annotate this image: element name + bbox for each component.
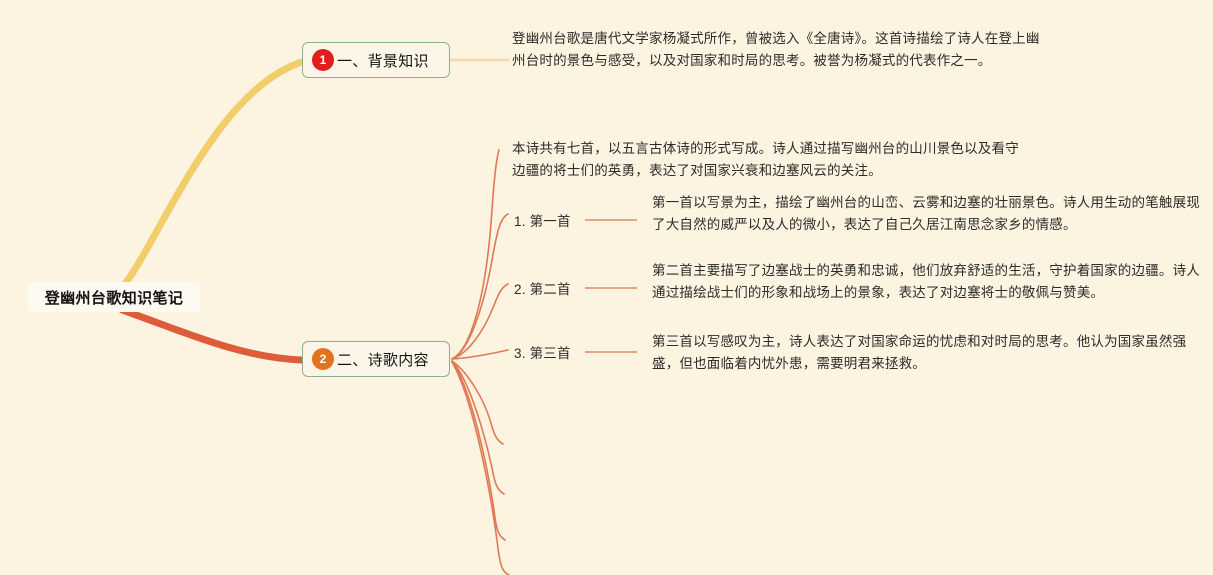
sub-item-3-connector-line [585,351,637,353]
sub-item-1-connector-line [585,219,637,221]
edge-branch-2-extra-1 [452,361,503,444]
sub-item-poem-2[interactable]: 2. 第二首 第二首主要描写了边塞战士的英勇和忠诚，他们放弃舒适的生活，守护着国… [514,260,1210,316]
branch-2-label: 二、诗歌内容 [337,349,429,370]
branch-1-number-badge: 1 [312,49,334,71]
root-node[interactable]: 登幽州台歌知识笔记 [28,282,200,312]
edge-branch-2-to-intro [452,150,499,359]
edge-branch-2-to-item-1 [452,214,508,359]
edge-branch-2-to-item-2 [452,284,508,359]
branch-1-number: 1 [320,53,327,67]
sub-item-1-label: 1. 第一首 [514,210,571,230]
edge-branch-2-extra-4 [452,362,509,575]
sub-item-2-description: 第二首主要描写了边塞战士的英勇和忠诚，他们放弃舒适的生活，守护着国家的边疆。诗人… [652,260,1210,304]
sub-item-3-description: 第三首以写感叹为主，诗人表达了对国家命运的忧虑和对时局的思考。他认为国家虽然强盛… [652,331,1210,375]
branch-2-number-badge: 2 [312,348,334,370]
sub-item-poem-3[interactable]: 3. 第三首 第三首以写感叹为主，诗人表达了对国家命运的忧虑和对时局的思考。他认… [514,331,1210,375]
sub-item-poem-1[interactable]: 1. 第一首 第一首以写景为主，描绘了幽州台的山峦、云雾和边塞的壮丽景色。诗人用… [514,192,1210,248]
branch-node-background-knowledge[interactable]: 1 一、背景知识 [302,42,450,78]
sub-item-3-label: 3. 第三首 [514,342,571,362]
branch-1-body-text: 登幽州台歌是唐代文学家杨凝式所作，曾被选入《全唐诗》。这首诗描绘了诗人在登上幽州… [512,28,1042,72]
sub-item-1-description: 第一首以写景为主，描绘了幽州台的山峦、云雾和边塞的壮丽景色。诗人用生动的笔触展现… [652,192,1210,236]
branch-2-number: 2 [320,352,327,366]
edge-branch-2-to-item-3 [452,350,508,359]
sub-item-2-label-wrap: 2. 第二首 [514,260,652,316]
sub-item-2-connector-line [585,287,637,289]
branch-2-intro-text: 本诗共有七首，以五言古体诗的形式写成。诗人通过描写幽州台的山川景色以及看守边疆的… [512,138,1028,182]
edge-branch-2-extra-3 [452,361,505,540]
branch-node-poem-content[interactable]: 2 二、诗歌内容 [302,341,450,377]
branch-1-label: 一、背景知识 [337,50,429,71]
edge-root-to-branch-1 [122,62,302,288]
edge-root-to-branch-2 [122,310,302,360]
edge-branch-2-extra-2 [452,361,504,494]
sub-item-1-label-wrap: 1. 第一首 [514,192,652,248]
sub-item-3-label-wrap: 3. 第三首 [514,331,652,373]
sub-item-2-label: 2. 第二首 [514,278,571,298]
root-node-label: 登幽州台歌知识笔记 [45,287,184,308]
mindmap-canvas: 登幽州台歌知识笔记 1 一、背景知识 登幽州台歌是唐代文学家杨凝式所作，曾被选入… [0,0,1213,575]
